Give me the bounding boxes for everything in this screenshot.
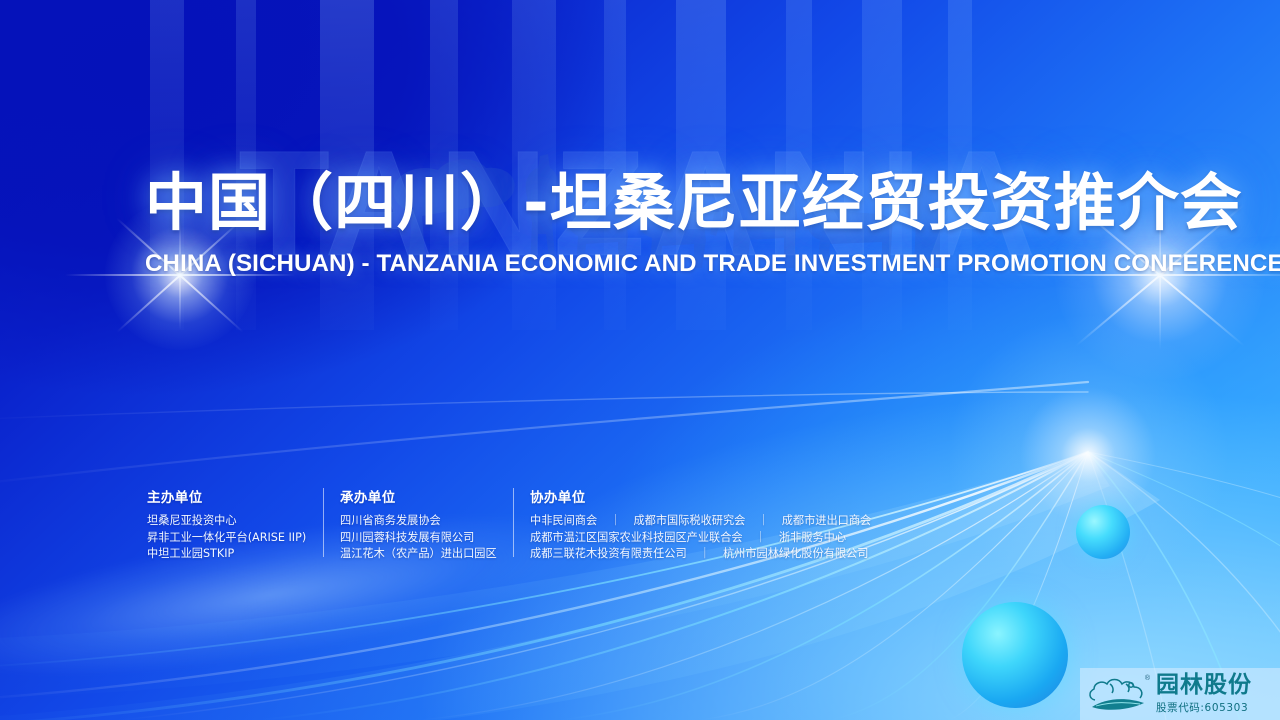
entry-separator: ｜ bbox=[601, 513, 630, 530]
organizer-entry: 成都市温江区国家农业科技园区产业联合会 bbox=[530, 531, 743, 544]
sponsor-text: 园林股份 股票代码:605303 bbox=[1156, 673, 1252, 714]
organizer-entry: 浙非服务中心 bbox=[779, 531, 846, 544]
poster-canvas: TANZANIA bbox=[0, 0, 1280, 720]
cyan-sphere-large bbox=[962, 602, 1068, 708]
organizer-heading-host: 主办单位 bbox=[147, 486, 323, 506]
organizer-column-undertaker: 承办单位 四川省商务发展协会 四川园蓉科技发展有限公司 温江花木（农产品）进出口… bbox=[337, 486, 513, 563]
organizer-entry: 中非民间商会 bbox=[530, 514, 597, 527]
organizer-credits: 主办单位 坦桑尼亚投资中心 昇非工业一体化平台(ARISE IIP) 中坦工业园… bbox=[147, 486, 871, 563]
sponsor-name: 园林股份 bbox=[1156, 673, 1252, 697]
organizer-row: 成都市温江区国家农业科技园区产业联合会 ｜ 浙非服务中心 bbox=[530, 530, 871, 547]
organizer-line: 昇非工业一体化平台(ARISE IIP) bbox=[147, 530, 323, 547]
organizer-line: 温江花木（农产品）进出口园区 bbox=[340, 546, 513, 563]
entry-separator: ｜ bbox=[749, 513, 778, 530]
conference-title-block: 中国（四川）-坦桑尼亚经贸投资推介会 CHINA (SICHUAN) - TAN… bbox=[145, 168, 1145, 278]
organizer-heading-undertaker: 承办单位 bbox=[340, 486, 513, 506]
cyan-sphere-small bbox=[1076, 505, 1130, 559]
organizer-entry: 成都市国际税收研究会 bbox=[633, 514, 745, 527]
entry-separator: ｜ bbox=[746, 530, 775, 547]
organizer-line: 中坦工业园STKIP bbox=[147, 546, 323, 563]
light-convergence-glow bbox=[928, 295, 1248, 615]
title-english: CHINA (SICHUAN) - TANZANIA ECONOMIC AND … bbox=[145, 250, 1130, 278]
organizer-heading-coorganizer: 协办单位 bbox=[530, 486, 871, 506]
sponsor-logo-block: ® 园林股份 股票代码:605303 bbox=[1080, 668, 1280, 720]
organizer-entry: 成都市进出口商会 bbox=[782, 514, 872, 527]
organizer-divider bbox=[513, 488, 514, 557]
entry-separator: ｜ bbox=[690, 546, 719, 563]
registered-trademark-icon: ® bbox=[1145, 675, 1150, 682]
organizer-row: 成都三联花木投资有限责任公司 ｜ 杭州市园林绿化股份有限公司 bbox=[530, 546, 871, 563]
organizer-divider bbox=[323, 488, 324, 557]
organizer-line: 四川园蓉科技发展有限公司 bbox=[340, 530, 513, 547]
garden-cloud-logo-icon: ® bbox=[1086, 672, 1152, 716]
organizer-row: 中非民间商会 ｜ 成都市国际税收研究会 ｜ 成都市进出口商会 bbox=[530, 513, 871, 530]
title-chinese: 中国（四川）-坦桑尼亚经贸投资推介会 bbox=[145, 168, 1145, 237]
sponsor-stock-code: 股票代码:605303 bbox=[1156, 700, 1252, 715]
organizer-column-host: 主办单位 坦桑尼亚投资中心 昇非工业一体化平台(ARISE IIP) 中坦工业园… bbox=[147, 486, 323, 563]
organizer-entry: 成都三联花木投资有限责任公司 bbox=[530, 547, 687, 560]
vertical-light-columns bbox=[0, 0, 1060, 330]
organizer-entry: 杭州市园林绿化股份有限公司 bbox=[723, 547, 868, 560]
organizer-line: 坦桑尼亚投资中心 bbox=[147, 513, 323, 530]
organizer-column-coorganizer: 协办单位 中非民间商会 ｜ 成都市国际税收研究会 ｜ 成都市进出口商会 成都市温… bbox=[527, 486, 871, 563]
organizer-line: 四川省商务发展协会 bbox=[340, 513, 513, 530]
background-decoration: TANZANIA bbox=[0, 0, 1280, 720]
light-streak-curves bbox=[0, 0, 1280, 720]
